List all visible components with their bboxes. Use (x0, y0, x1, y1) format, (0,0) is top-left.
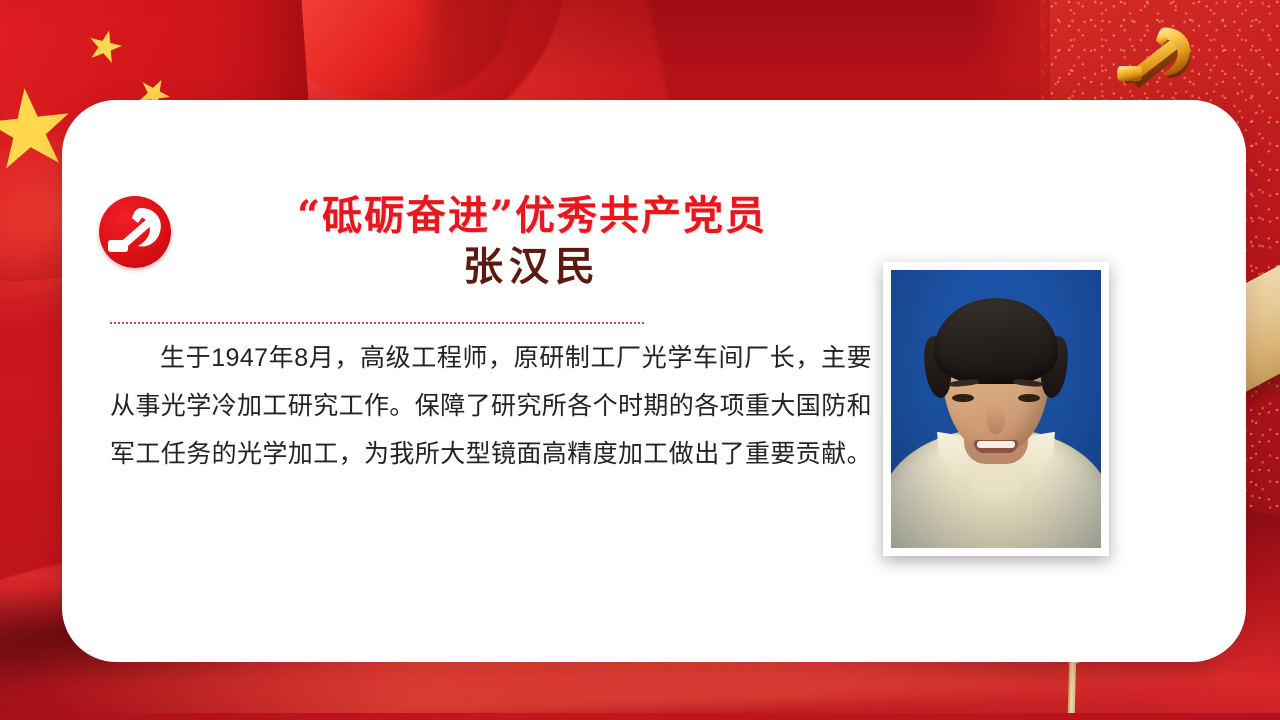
person-name: 张汉民 (192, 243, 872, 290)
gold-hammer-sickle-emblem-icon (1112, 24, 1200, 96)
title-block: “砥砺奋进”优秀共产党员 张汉民 (192, 192, 872, 290)
portrait-vignette (891, 270, 1101, 548)
bottom-edge-strip (0, 713, 1280, 720)
silk-shadow-top (430, 0, 990, 110)
portrait-frame (883, 262, 1109, 556)
biography-text: 生于1947年8月，高级工程师，原研制工厂光学车间厂长，主要从事光学冷加工研究工… (110, 334, 872, 478)
content-card: “砥砺奋进”优秀共产党员 张汉民 生于1947年8月，高级工程师，原研制工厂光学… (62, 100, 1246, 662)
divider (110, 322, 644, 324)
party-emblem-hammer-sickle-icon (99, 196, 171, 268)
slide-root: “砥砺奋进”优秀共产党员 张汉民 生于1947年8月，高级工程师，原研制工厂光学… (0, 0, 1280, 720)
portrait-photo (891, 270, 1101, 548)
page-title: “砥砺奋进”优秀共产党员 (192, 192, 872, 239)
